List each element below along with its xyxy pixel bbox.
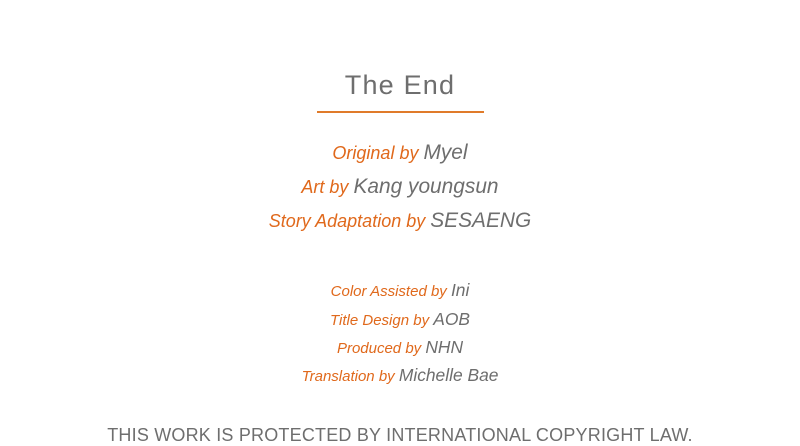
credit-line: Title Design by AOB bbox=[330, 305, 470, 333]
copyright-notice: THIS WORK IS PROTECTED BY INTERNATIONAL … bbox=[107, 425, 693, 446]
title-divider bbox=[317, 111, 484, 113]
credit-name: SESAENG bbox=[430, 209, 531, 232]
credit-line: Produced by NHN bbox=[337, 333, 463, 361]
credits-page: The End Original by Myel Art by Kang you… bbox=[0, 0, 800, 427]
credit-line: Story Adaptation by SESAENG bbox=[269, 204, 531, 238]
credit-name: Kang youngsun bbox=[353, 175, 498, 198]
credit-role: Title Design by bbox=[330, 312, 429, 329]
credit-line: Original by Myel bbox=[332, 136, 467, 170]
credit-name: Myel bbox=[423, 141, 467, 164]
credit-role: Produced by bbox=[337, 340, 421, 357]
credit-role: Translation by bbox=[302, 368, 395, 385]
credit-name: Michelle Bae bbox=[399, 365, 499, 385]
credit-name: AOB bbox=[433, 309, 470, 329]
page-title: The End bbox=[345, 72, 455, 99]
primary-credits-block: Original by Myel Art by Kang youngsun St… bbox=[269, 136, 531, 237]
credit-line: Color Assisted by Ini bbox=[331, 276, 470, 304]
credit-role: Art by bbox=[301, 177, 348, 197]
title-block: The End bbox=[317, 72, 484, 113]
secondary-credits-block: Color Assisted by Ini Title Design by AO… bbox=[302, 276, 499, 389]
credit-name: Ini bbox=[451, 280, 469, 300]
credit-name: NHN bbox=[425, 337, 463, 357]
credit-role: Original by bbox=[332, 143, 418, 163]
credit-role: Story Adaptation by bbox=[269, 211, 425, 231]
credit-line: Translation by Michelle Bae bbox=[302, 361, 499, 389]
credit-role: Color Assisted by bbox=[331, 283, 447, 300]
credit-line: Art by Kang youngsun bbox=[301, 170, 498, 204]
